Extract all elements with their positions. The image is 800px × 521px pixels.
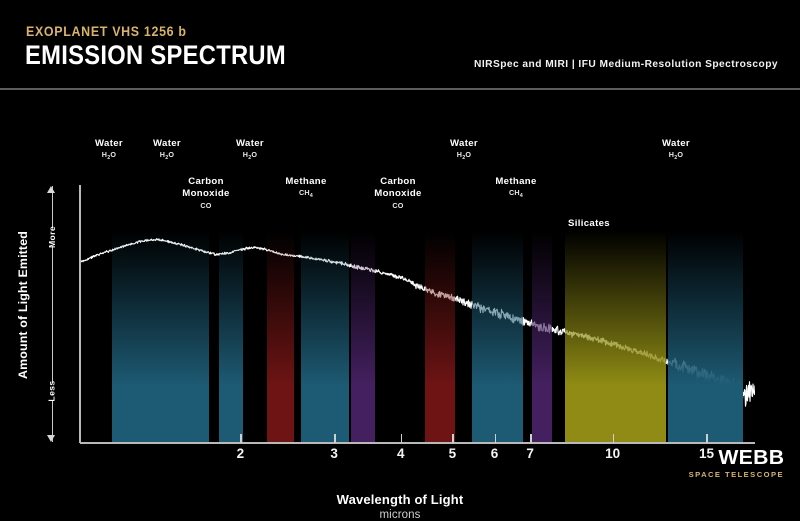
molecule-formula: H2O <box>236 150 264 160</box>
y-axis-less-label: Less <box>31 382 73 400</box>
arrow-up-icon <box>47 186 55 193</box>
molecule-label: MethaneCH4 <box>495 176 536 198</box>
x-axis-tick <box>706 434 708 443</box>
molecule-name: Water <box>153 138 181 150</box>
molecule-label: CarbonMonoxideCO <box>182 176 229 210</box>
molecule-formula: CO <box>182 201 229 210</box>
webb-logo: WEBB SPACE TELESCOPE <box>689 448 784 479</box>
absorption-band <box>112 185 209 442</box>
y-axis-label-group: Amount of Light Emitted <box>2 186 24 442</box>
molecule-formula: H2O <box>153 150 181 160</box>
molecule-formula: H2O <box>95 150 123 160</box>
molecule-label: Silicates <box>568 218 610 230</box>
molecule-name: CarbonMonoxide <box>374 176 421 201</box>
absorption-band <box>219 185 243 442</box>
molecule-name: Methane <box>495 176 536 188</box>
x-axis-tick <box>334 434 336 443</box>
absorption-band <box>668 185 743 442</box>
x-axis-title: Wavelength of Light <box>0 492 800 507</box>
y-axis-line <box>79 185 81 443</box>
infographic-root: EXOPLANET VHS 1256 b EMISSION SPECTRUM N… <box>0 0 800 491</box>
absorption-band <box>532 185 552 442</box>
x-axis-tick-label: 2 <box>237 446 245 461</box>
x-axis-tick <box>401 434 403 443</box>
x-axis-tick-label: 5 <box>449 446 457 461</box>
molecule-label: WaterH2O <box>662 138 690 160</box>
header: EXOPLANET VHS 1256 b EMISSION SPECTRUM N… <box>0 0 800 88</box>
x-axis-tick <box>240 434 242 443</box>
webb-wordmark: WEBB <box>683 448 784 468</box>
plot-area <box>80 185 755 442</box>
arrow-down-icon <box>47 435 55 442</box>
x-axis-subtitle: microns <box>0 509 800 521</box>
molecule-name: CarbonMonoxide <box>182 176 229 201</box>
molecule-name: Water <box>236 138 264 150</box>
eyebrow-planet-name: EXOPLANET VHS 1256 b <box>26 24 187 39</box>
molecule-name: Methane <box>285 176 326 188</box>
molecule-formula: H2O <box>450 150 478 160</box>
molecule-name: Water <box>662 138 690 150</box>
molecule-formula: CH4 <box>285 188 326 198</box>
y-more-text: More <box>47 226 57 248</box>
y-axis-more-label: More <box>31 228 73 246</box>
molecule-formula: CO <box>374 201 421 210</box>
chart-figure: Amount of Light Emitted More Less 234567… <box>0 90 800 491</box>
molecule-label: MethaneCH4 <box>285 176 326 198</box>
y-axis-arrow: More Less <box>44 186 60 442</box>
molecule-label: CarbonMonoxideCO <box>374 176 421 210</box>
x-axis-tick-label: 10 <box>605 446 620 461</box>
molecule-label: WaterH2O <box>153 138 181 160</box>
x-axis-tick <box>452 434 454 443</box>
molecule-label: WaterH2O <box>450 138 478 160</box>
absorption-band <box>301 185 349 442</box>
instrument-subtitle: NIRSpec and MIRI | IFU Medium-Resolution… <box>474 59 778 70</box>
page-title: EMISSION SPECTRUM <box>25 40 286 71</box>
webb-tagline: SPACE TELESCOPE <box>689 471 784 479</box>
absorption-band <box>425 185 454 442</box>
y-arrow-stem <box>52 186 53 442</box>
absorption-band <box>472 185 523 442</box>
molecule-formula: H2O <box>662 150 690 160</box>
x-axis-tick <box>530 434 532 443</box>
molecule-label: WaterH2O <box>95 138 123 160</box>
absorption-band <box>351 185 376 442</box>
y-axis-title: Amount of Light Emitted <box>16 180 30 430</box>
x-axis-tick-label: 3 <box>330 446 338 461</box>
absorption-band <box>267 185 294 442</box>
x-axis-tick-label: 6 <box>491 446 499 461</box>
molecule-formula: CH4 <box>495 188 536 198</box>
molecule-name: Water <box>450 138 478 150</box>
molecule-name: Water <box>95 138 123 150</box>
x-axis-tick <box>613 434 615 443</box>
x-axis-tick-label: 7 <box>526 446 534 461</box>
x-axis-line <box>80 442 755 444</box>
molecule-label: WaterH2O <box>236 138 264 160</box>
x-axis-tick-label: 4 <box>397 446 405 461</box>
x-axis-tick <box>495 434 497 443</box>
molecule-name: Silicates <box>568 218 610 230</box>
y-less-text: Less <box>47 380 57 401</box>
